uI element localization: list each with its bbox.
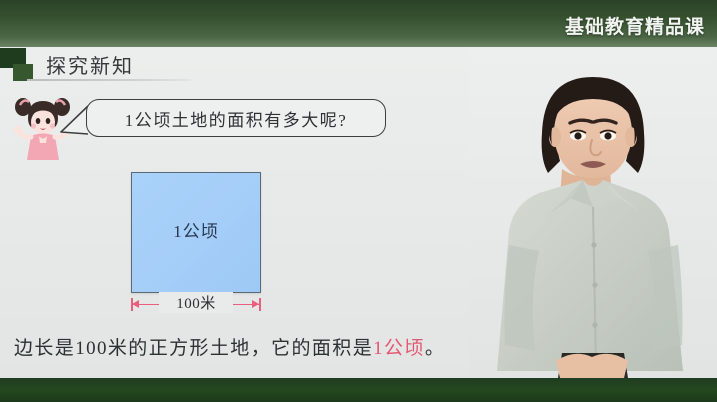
brand-title: 基础教育精品课 [565, 12, 705, 39]
presenter-figure [470, 47, 717, 378]
page-title: 探究新知 [46, 50, 134, 79]
speech-bubble-text: 1公顷土地的面积有多大呢? [125, 106, 348, 131]
lesson-video-frame: 基础教育精品课 探究新知 [0, 0, 717, 402]
dimension-arrow-right-icon [252, 300, 259, 308]
dimension-label: 100米 [159, 292, 233, 313]
title-underline [27, 79, 191, 81]
conclusion-prefix: 边长是100米的正方形土地，它的面积是 [14, 338, 373, 359]
conclusion-sentence: 边长是100米的正方形土地，它的面积是1公顷。 [14, 333, 445, 360]
dimension-cap-right [259, 298, 261, 311]
conclusion-highlight: 1公顷 [373, 338, 425, 359]
conclusion-suffix: 。 [425, 338, 445, 359]
dimension-arrow-left-icon [132, 300, 139, 308]
dimension-measure: 100米 [131, 295, 261, 315]
hectare-square-figure: 1公顷 [131, 172, 261, 293]
bottom-green-band [0, 378, 717, 402]
speech-bubble: 1公顷土地的面积有多大呢? [86, 99, 386, 137]
hectare-square-label: 1公顷 [132, 217, 260, 242]
